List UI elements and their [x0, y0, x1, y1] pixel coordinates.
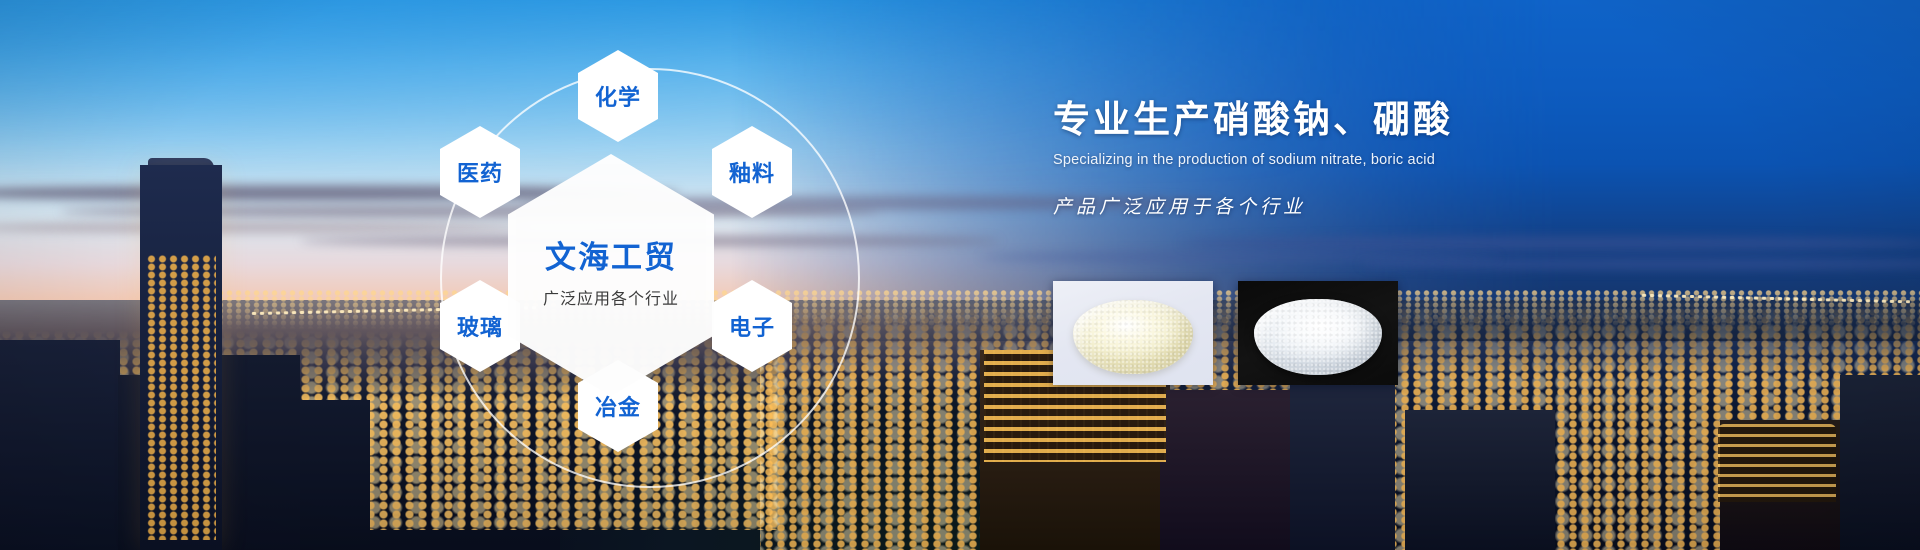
hex-node-label: 医药	[457, 156, 503, 188]
banner-headline: 专业生产硝酸钠、硼酸	[1053, 97, 1793, 143]
powder-pile	[1254, 299, 1382, 375]
promo-banner: 化学 釉料 电子 冶金 玻璃 医药 文海工贸 广泛应用各个行业 专业生产硝酸钠、…	[0, 0, 1920, 550]
powder-grain-texture	[1254, 299, 1382, 375]
product-photo-group	[1053, 281, 1398, 385]
hex-node-label: 化学	[595, 80, 641, 112]
product-photo-boric-acid	[1238, 281, 1398, 385]
hex-node-label: 电子	[729, 310, 775, 342]
hex-node-label: 玻璃	[457, 310, 503, 342]
banner-copy-block: 专业生产硝酸钠、硼酸 Specializing in the productio…	[1053, 97, 1793, 219]
powder-pile	[1073, 300, 1193, 374]
brand-subtitle: 广泛应用各个行业	[543, 285, 679, 309]
hex-node-label: 釉料	[729, 156, 775, 188]
product-photo-sodium-nitrate	[1053, 281, 1213, 385]
banner-tagline: 产品广泛应用于各个行业	[1053, 192, 1793, 219]
hex-node-label: 冶金	[595, 390, 641, 422]
industry-hex-diagram: 化学 釉料 电子 冶金 玻璃 医药 文海工贸 广泛应用各个行业	[418, 22, 978, 532]
banner-subline-english: Specializing in the production of sodium…	[1053, 152, 1793, 168]
brand-name: 文海工贸	[545, 241, 677, 275]
powder-grain-texture	[1073, 300, 1193, 374]
